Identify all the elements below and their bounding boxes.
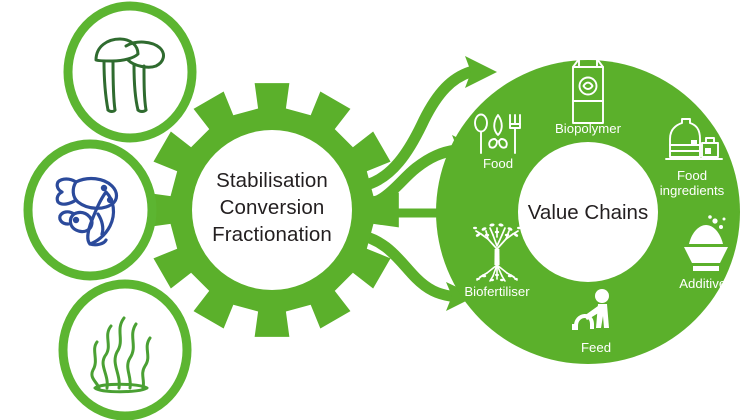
value-chains-label: Value Chains	[528, 201, 648, 224]
ring-label-biofertiliser: Biofertiliser	[464, 284, 530, 299]
fish-circle-outline	[28, 144, 152, 276]
input-circle-mushrooms[interactable]	[68, 6, 192, 138]
diagram-canvas: Value Chains Biopolymer	[0, 0, 747, 420]
biorefinery-value-chain-diagram: Value Chains Biopolymer	[0, 0, 747, 420]
input-circle-seaweed[interactable]	[63, 284, 187, 416]
input-circle-fish[interactable]	[28, 144, 152, 276]
ring-label-additives: Additives	[679, 276, 733, 291]
gear-line-3: Fractionation	[212, 223, 332, 246]
ring-label-food-ingredients-line1: Food	[677, 168, 707, 183]
mushroom-circle-outline	[68, 6, 192, 138]
ring-label-food-ingredients-line2: ingredients	[660, 183, 725, 198]
processing-gear[interactable]: Stabilisation Conversion Fractionation	[145, 83, 399, 337]
ring-label-biopolymer: Biopolymer	[555, 121, 622, 136]
gear-line-2: Conversion	[220, 196, 325, 219]
gear-line-1: Stabilisation	[216, 169, 328, 192]
ring-label-food: Food	[483, 156, 513, 171]
seaweed-circle-outline	[63, 284, 187, 416]
ring-label-feed: Feed	[581, 340, 611, 355]
